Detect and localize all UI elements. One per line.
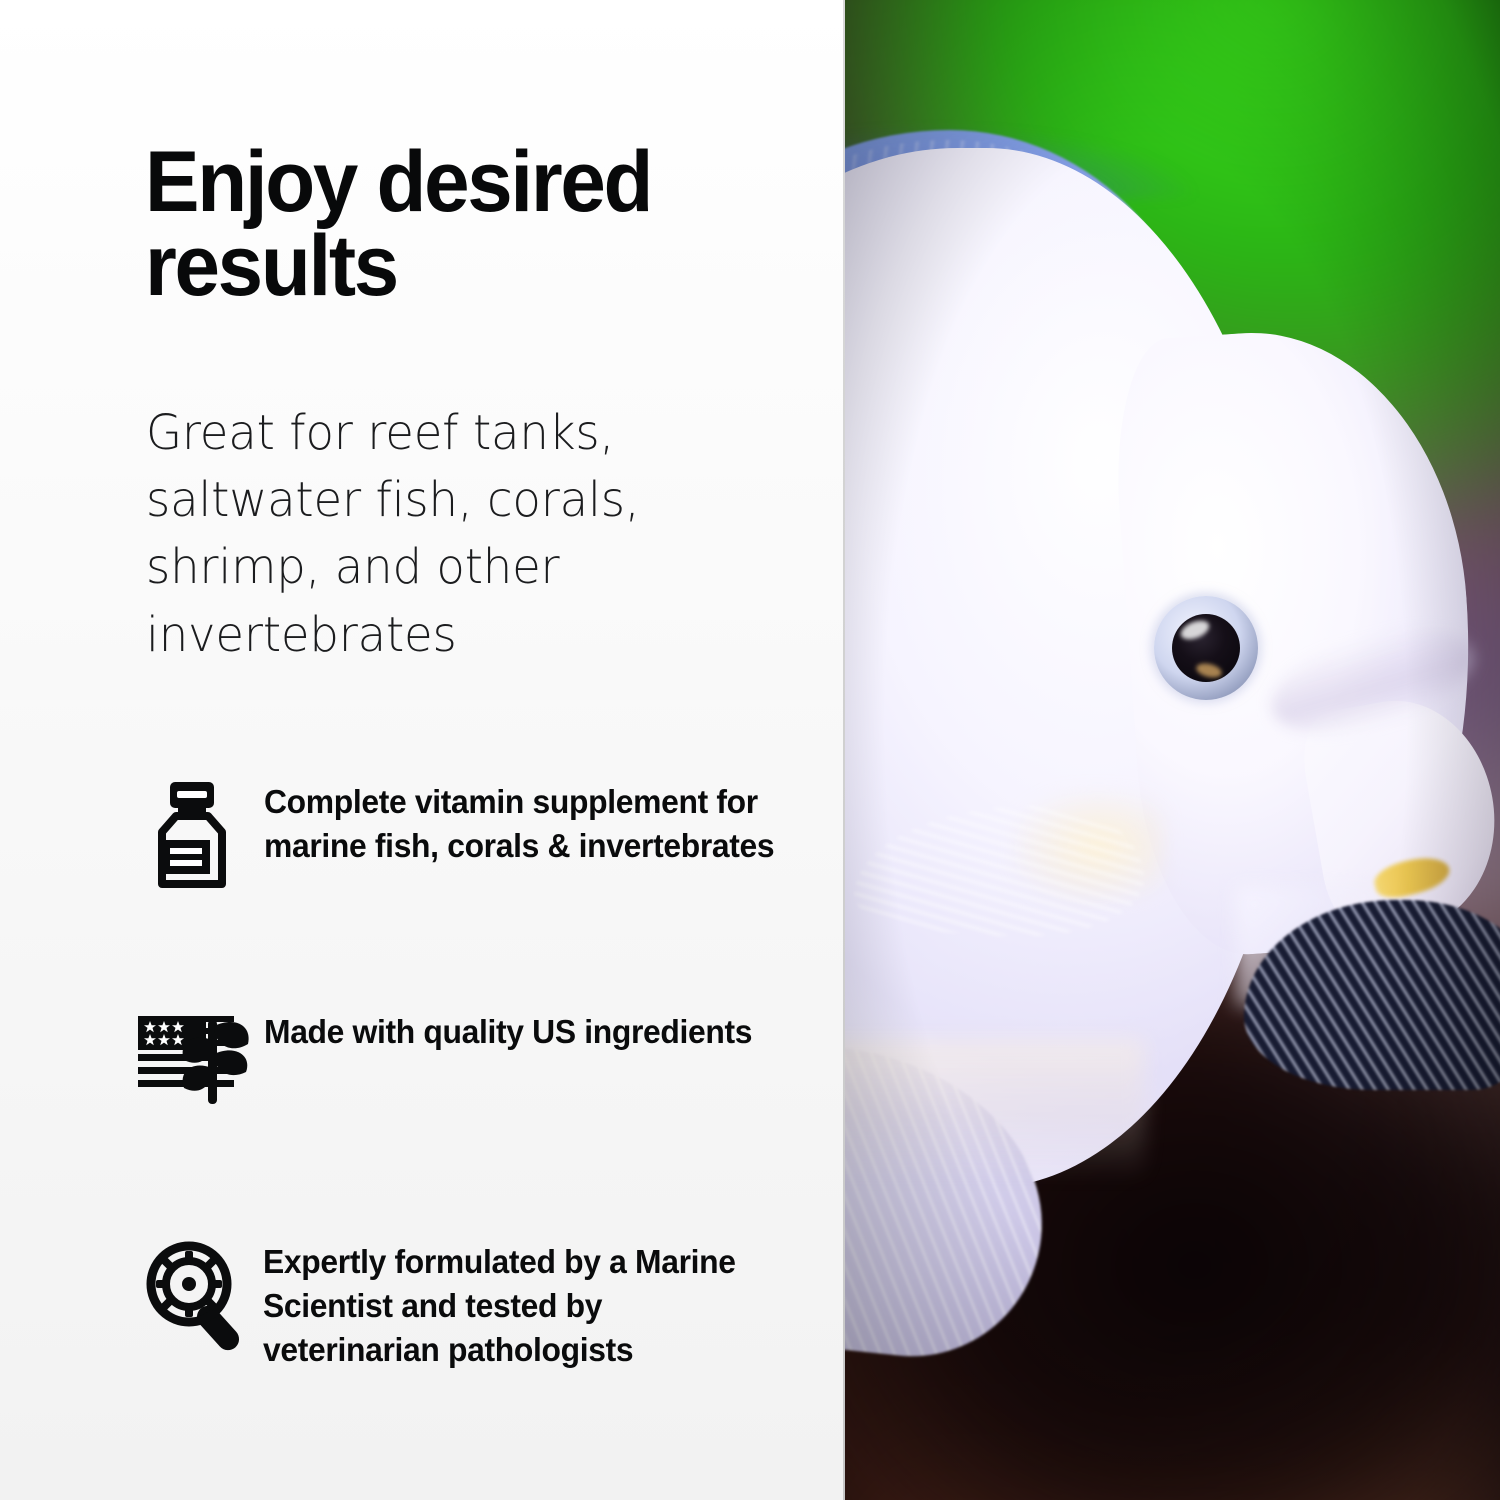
feature-label: Complete vitamin supplement for marine f…	[264, 780, 775, 868]
marketing-image-canvas: Enjoy desired results Great for reef tan…	[0, 0, 1500, 1500]
subtitle-text: Great for reef tanks, saltwater fish, co…	[146, 400, 767, 669]
magnifier-microbe-icon	[145, 1240, 263, 1356]
feature-row: Made with quality US ingredients	[136, 1010, 816, 1106]
product-lifestyle-photo	[844, 0, 1500, 1500]
text-panel: Enjoy desired results Great for reef tan…	[0, 0, 844, 1500]
us-flag-plant-icon	[136, 1010, 264, 1106]
feature-label: Expertly formulated by a Marine Scientis…	[263, 1240, 784, 1372]
panel-divider	[843, 0, 845, 1500]
feature-row: Expertly formulated by a Marine Scientis…	[145, 1240, 835, 1372]
feature-label: Made with quality US ingredients	[264, 1010, 766, 1054]
page-title: Enjoy desired results	[145, 140, 791, 309]
supplement-bottle-icon	[146, 780, 264, 888]
photo-vignette	[844, 0, 1500, 1500]
feature-row: Complete vitamin supplement for marine f…	[146, 780, 826, 888]
